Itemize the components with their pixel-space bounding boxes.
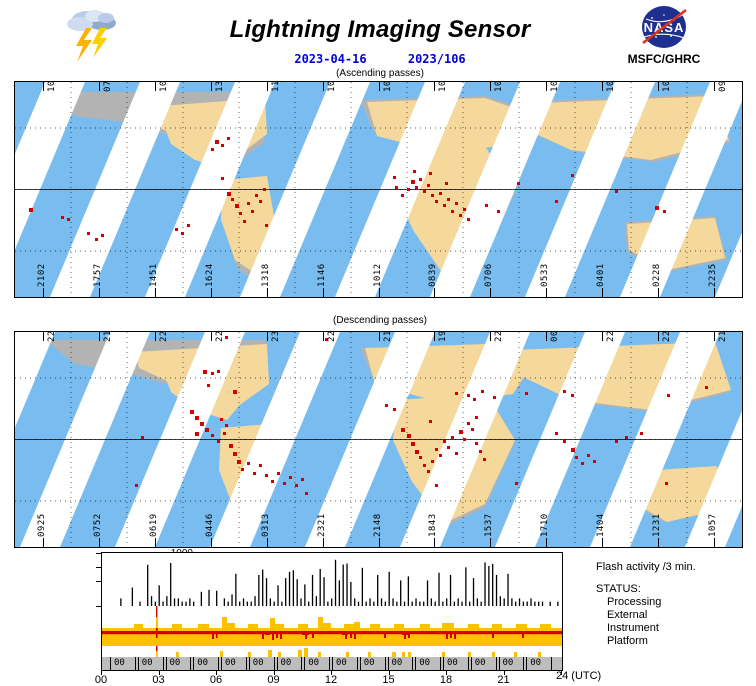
chart-legend: Flash activity /3 min. STATUS: Processin… bbox=[596, 561, 756, 648]
map-time-label-bottom: 0446 bbox=[205, 513, 215, 537]
map-tick-top bbox=[43, 82, 44, 91]
map-time-label-bottom: 0313 bbox=[261, 513, 271, 537]
orbit-segment-label: 00 bbox=[170, 658, 181, 668]
map-tick-bottom bbox=[99, 288, 100, 297]
map-time-label-bottom: 2102 bbox=[37, 263, 47, 287]
map-time-label-top: 2152 bbox=[103, 331, 113, 342]
map-tick-top bbox=[658, 332, 659, 341]
map-tick-bottom bbox=[434, 538, 435, 547]
map-tick-top bbox=[714, 332, 715, 341]
map-tick-top bbox=[434, 82, 435, 91]
map-time-label-bottom: 1057 bbox=[708, 513, 718, 537]
x-axis-label: 21 bbox=[489, 674, 519, 686]
utc-axis-label: 24 (UTC) bbox=[556, 670, 601, 682]
legend-flash-activity: Flash activity /3 min. bbox=[596, 561, 756, 574]
orbit-segment-label: 00 bbox=[197, 658, 208, 668]
descending-subtitle: (Descending passes) bbox=[150, 315, 610, 326]
map-time-label-top: 0010 bbox=[550, 331, 560, 342]
day-of-year: 2023/106 bbox=[408, 52, 466, 66]
map-tick-top bbox=[714, 82, 715, 91]
thunderstorm-icon bbox=[62, 6, 124, 62]
map-tick-top bbox=[43, 332, 44, 341]
orbit-segment-label: 00 bbox=[114, 658, 125, 668]
orbit-segment-label: 00 bbox=[419, 658, 430, 668]
orbit-segment-label: 00 bbox=[308, 658, 319, 668]
map-time-label-top: 2313 bbox=[271, 331, 281, 342]
orbit-segment-label: 00 bbox=[530, 658, 541, 668]
orbit-segment-label: 00 bbox=[225, 658, 236, 668]
flash-activity-series bbox=[102, 553, 562, 607]
map-time-label-bottom: 0925 bbox=[37, 513, 47, 537]
map-time-label-bottom: 0752 bbox=[93, 513, 103, 537]
map-tick-top bbox=[434, 332, 435, 341]
map-tick-top bbox=[99, 332, 100, 341]
map-time-label-bottom: 0619 bbox=[149, 513, 159, 537]
map-tick-bottom bbox=[714, 288, 715, 297]
map-time-label-top: 1039 bbox=[438, 81, 448, 92]
map-time-label-top: 0757 bbox=[103, 81, 113, 92]
map-tick-top bbox=[211, 82, 212, 91]
map-time-label-bottom: 1231 bbox=[652, 513, 662, 537]
map-time-label-top: 1001 bbox=[606, 81, 616, 92]
map-tick-bottom bbox=[602, 288, 603, 297]
x-axis-label: 18 bbox=[431, 674, 461, 686]
map-time-label-bottom: 1404 bbox=[596, 513, 606, 537]
map-time-label-top: 1046 bbox=[327, 81, 337, 92]
map-tick-top bbox=[546, 82, 547, 91]
orbit-segment-label: 00 bbox=[447, 658, 458, 668]
legend-status-title: STATUS: bbox=[596, 583, 756, 596]
external-status-bars bbox=[102, 617, 562, 628]
map-time-label-bottom: 2235 bbox=[708, 263, 718, 287]
map-tick-top bbox=[99, 82, 100, 91]
map-time-label-bottom: 0533 bbox=[540, 263, 550, 287]
orbit-segment-label: 00 bbox=[503, 658, 514, 668]
map-time-label-top: 2204 bbox=[606, 331, 616, 342]
orbit-segment-label: 00 bbox=[336, 658, 347, 668]
map-tick-bottom bbox=[267, 538, 268, 547]
x-axis-label: 09 bbox=[259, 674, 289, 686]
map-time-label-top: 2219 bbox=[159, 331, 169, 342]
map-tick-bottom bbox=[155, 538, 156, 547]
map-tick-bottom bbox=[323, 288, 324, 297]
map-time-label-top: 1324 bbox=[215, 81, 225, 92]
map-time-label-bottom: 2321 bbox=[317, 513, 327, 537]
map-tick-bottom bbox=[323, 538, 324, 547]
orbit-segment-label: 00 bbox=[364, 658, 375, 668]
map-tick-bottom bbox=[546, 538, 547, 547]
map-tick-top bbox=[211, 332, 212, 341]
map-tick-bottom bbox=[546, 288, 547, 297]
map-tick-top bbox=[379, 82, 380, 91]
map-tick-bottom bbox=[155, 288, 156, 297]
date-row: 2023-04-16 2023/106 bbox=[150, 52, 610, 66]
map-time-label-bottom: 0706 bbox=[484, 263, 494, 287]
map-tick-top bbox=[267, 332, 268, 341]
map-tick-bottom bbox=[43, 538, 44, 547]
map-time-label-top: 1006 bbox=[494, 81, 504, 92]
flash-activity-chart: 1000 100 10 1 bbox=[0, 548, 756, 680]
map-time-label-top: 2225 bbox=[47, 331, 57, 342]
map-time-label-top: 2157 bbox=[718, 331, 728, 342]
map-tick-bottom bbox=[490, 288, 491, 297]
map-tick-bottom bbox=[211, 288, 212, 297]
orbit-segment-strip[interactable]: 00000000000000000000000000000000 bbox=[101, 657, 563, 671]
map-tick-top bbox=[658, 82, 659, 91]
orbit-segment-label: 00 bbox=[475, 658, 486, 668]
map-time-label-top: 1012 bbox=[383, 81, 393, 92]
map-tick-top bbox=[155, 82, 156, 91]
map-tick-bottom bbox=[434, 288, 435, 297]
map-time-label-bottom: 0839 bbox=[428, 263, 438, 287]
map-tick-bottom bbox=[379, 538, 380, 547]
map-tick-bottom bbox=[211, 538, 212, 547]
map-time-label-bottom: 1710 bbox=[540, 513, 550, 537]
map-time-label-top: 2148 bbox=[383, 331, 393, 342]
nasa-meatball-logo: NASA bbox=[626, 5, 702, 49]
map-time-label-top: 1002 bbox=[47, 81, 57, 92]
x-axis-label: 12 bbox=[316, 674, 346, 686]
map-tick-bottom bbox=[99, 538, 100, 547]
map-time-label-bottom: 1624 bbox=[205, 263, 215, 287]
map-time-label-bottom: 1537 bbox=[484, 513, 494, 537]
agency-label: MSFC/GHRC bbox=[610, 52, 718, 66]
map-tick-top bbox=[490, 82, 491, 91]
map-tick-bottom bbox=[602, 538, 603, 547]
orbit-segment-label: 00 bbox=[142, 658, 153, 668]
map-time-label-bottom: 0401 bbox=[596, 263, 606, 287]
map-time-label-top: 2246 bbox=[215, 331, 225, 342]
map-time-label-bottom: 1318 bbox=[261, 263, 271, 287]
descending-passes-map[interactable]: 2225215222192246231322212148194322370010… bbox=[14, 331, 743, 548]
map-tick-top bbox=[602, 82, 603, 91]
map-tick-bottom bbox=[379, 288, 380, 297]
orbit-segment-label: 00 bbox=[392, 658, 403, 668]
map-time-label-top: 2237 bbox=[494, 331, 504, 342]
map-tick-top bbox=[323, 82, 324, 91]
map-time-label-top: 1118 bbox=[271, 81, 281, 92]
legend-platform: Platform bbox=[596, 635, 756, 648]
page-title: Lightning Imaging Sensor bbox=[150, 16, 610, 44]
x-axis-label: 06 bbox=[201, 674, 231, 686]
ascending-subtitle: (Ascending passes) bbox=[150, 68, 610, 79]
map-time-label-bottom: 1843 bbox=[428, 513, 438, 537]
legend-external: External bbox=[596, 609, 756, 622]
map-time-label-top: 1051 bbox=[159, 81, 169, 92]
flash-activity-plot[interactable] bbox=[101, 552, 563, 608]
map-tick-bottom bbox=[714, 538, 715, 547]
map-time-label-bottom: 0228 bbox=[652, 263, 662, 287]
map-time-label-top: 1028 bbox=[662, 81, 672, 92]
x-axis-label: 15 bbox=[374, 674, 404, 686]
map-time-label-top: 1033 bbox=[550, 81, 560, 92]
x-axis-label: 00 bbox=[86, 674, 116, 686]
map-time-label-bottom: 1451 bbox=[149, 263, 159, 287]
legend-instrument: Instrument bbox=[596, 622, 756, 635]
map-tick-bottom bbox=[658, 288, 659, 297]
ascending-passes-map[interactable]: 1002075710511324111810461012103910061033… bbox=[14, 81, 743, 298]
map-time-label-top: 1943 bbox=[438, 331, 448, 342]
map-tick-bottom bbox=[658, 538, 659, 547]
map-time-label-bottom: 1757 bbox=[93, 263, 103, 287]
instrument-status-bars bbox=[102, 628, 562, 646]
map-time-label-bottom: 2148 bbox=[373, 513, 383, 537]
map-time-label-top: 2231 bbox=[662, 331, 672, 342]
status-row-instrument[interactable] bbox=[101, 628, 563, 647]
map-time-label-top: 2221 bbox=[327, 331, 337, 342]
map-time-label-top: 0935 bbox=[718, 81, 728, 92]
map-tick-bottom bbox=[490, 538, 491, 547]
observation-date: 2023-04-16 bbox=[294, 52, 366, 66]
map-tick-top bbox=[267, 82, 268, 91]
map-time-label-bottom: 1146 bbox=[317, 263, 327, 287]
map-tick-bottom bbox=[43, 288, 44, 297]
map-tick-top bbox=[602, 332, 603, 341]
map-tick-top bbox=[323, 332, 324, 341]
platform-status-bars bbox=[102, 646, 562, 657]
map-time-label-bottom: 1012 bbox=[373, 263, 383, 287]
processing-status-bars bbox=[102, 606, 562, 617]
orbit-segment-label: 00 bbox=[253, 658, 264, 668]
orbit-segment-label: 00 bbox=[281, 658, 292, 668]
x-axis-label: 03 bbox=[144, 674, 174, 686]
map-tick-top bbox=[379, 332, 380, 341]
map-tick-top bbox=[546, 332, 547, 341]
legend-processing: Processing bbox=[596, 596, 756, 609]
map-tick-bottom bbox=[267, 288, 268, 297]
page-header: Lightning Imaging Sensor 2023-04-16 2023… bbox=[0, 0, 756, 78]
map-tick-top bbox=[155, 332, 156, 341]
map-tick-top bbox=[490, 332, 491, 341]
